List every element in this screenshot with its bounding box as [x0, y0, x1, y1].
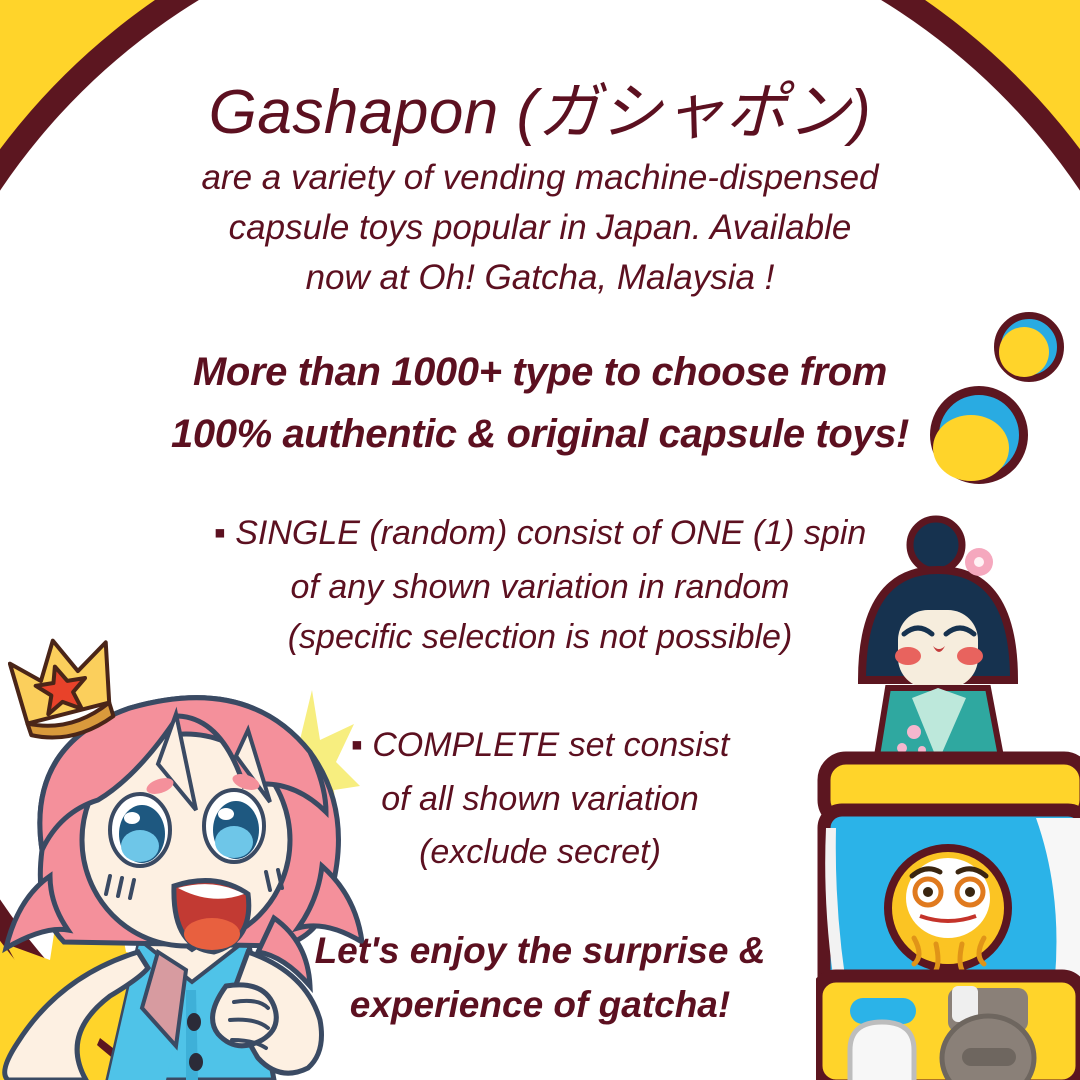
- bullet-single-text-1: SINGLE (random) consist of ONE (1) spin: [235, 514, 866, 552]
- bullet-single-line-3: (specific selection is not possible): [0, 620, 1080, 654]
- page-title: Gashapon (ガシャポン): [0, 82, 1080, 144]
- bullet-marker-complete: ▪: [351, 726, 363, 764]
- bullet-complete-line-2: of all shown variation: [0, 782, 1080, 816]
- description-line-1: are a variety of vending machine-dispens…: [0, 160, 1080, 195]
- bullet-complete-text-1: COMPLETE set consist: [372, 726, 729, 764]
- highlight-line-1: More than 1000+ type to choose from: [0, 352, 1080, 392]
- bullet-marker-single: ▪: [214, 514, 226, 552]
- description-line-3: now at Oh! Gatcha, Malaysia !: [0, 260, 1080, 295]
- bullet-complete-line-3: (exclude secret): [0, 835, 1080, 869]
- bullet-complete-line-1: ▪ COMPLETE set consist: [0, 728, 1080, 762]
- bullet-single-line-1: ▪ SINGLE (random) consist of ONE (1) spi…: [0, 516, 1080, 550]
- highlight-line-2: 100% authentic & original capsule toys!: [0, 414, 1080, 454]
- call-to-action-line-2: experience of gatcha!: [0, 986, 1080, 1023]
- call-to-action-line-1: Let's enjoy the surprise &: [0, 932, 1080, 969]
- description-line-2: capsule toys popular in Japan. Available: [0, 210, 1080, 245]
- bullet-single-line-2: of any shown variation in random: [0, 570, 1080, 604]
- gashapon-promo-poster: Gashapon (ガシャポン) are a variety of vendin…: [0, 0, 1080, 1080]
- text-content: Gashapon (ガシャポン) are a variety of vendin…: [0, 0, 1080, 1080]
